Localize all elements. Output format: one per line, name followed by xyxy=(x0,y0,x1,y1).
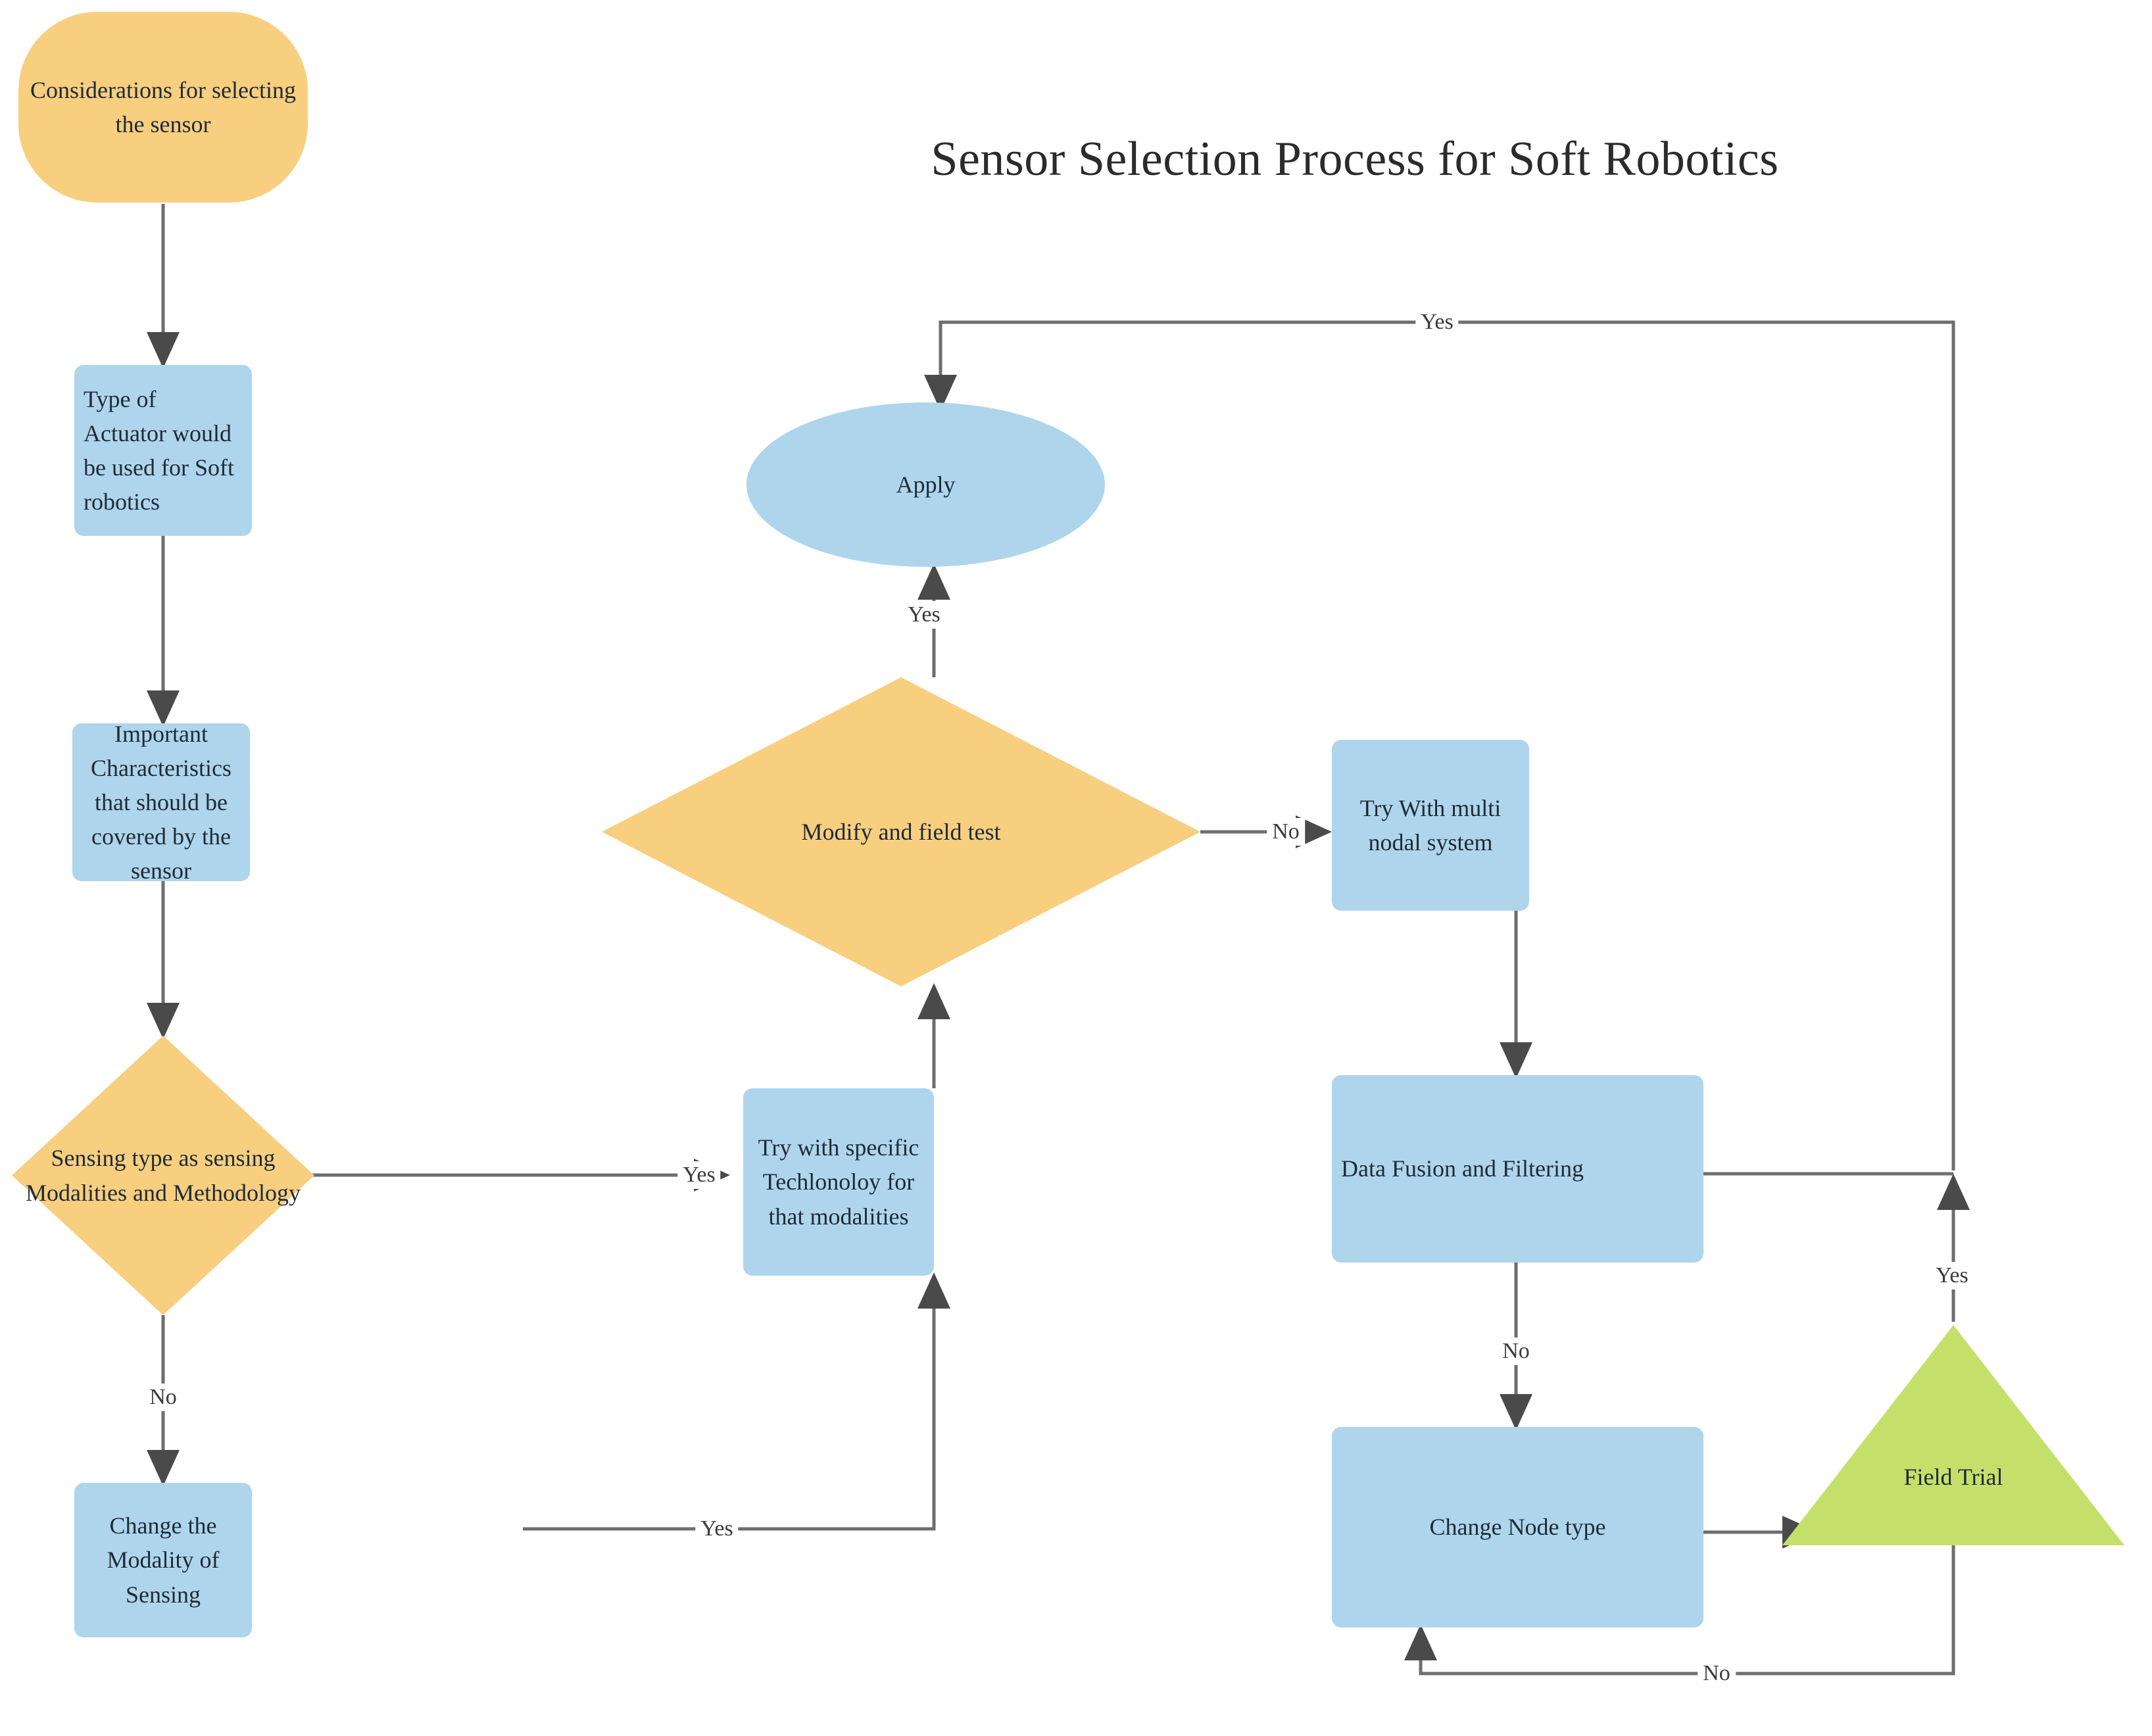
node-label: Sensing type as sensing Modalities and M… xyxy=(12,1141,314,1209)
node-label: Try With multi nodal system xyxy=(1332,791,1529,859)
node-change-node-type[interactable]: Change Node type xyxy=(1332,1427,1703,1627)
chart-title: Sensor Selection Process for Soft Roboti… xyxy=(763,132,1947,187)
edge-label-field-trial-yes: Yes xyxy=(1930,1262,1973,1290)
node-label: Considerations for selecting the sensor xyxy=(18,73,308,141)
node-label: Type of Actuator would be used for Soft … xyxy=(74,382,252,519)
node-data-fusion-and-filtering[interactable]: Data Fusion and Filtering xyxy=(1332,1075,1703,1263)
node-label: Try with specific Techlonoloy for that m… xyxy=(743,1130,934,1234)
node-change-the-modality-of-sensing[interactable]: Change the Modality of Sensing xyxy=(74,1483,252,1637)
node-modify-and-field-test-decision[interactable]: Modify and field test xyxy=(602,677,1200,986)
edge-label-modify-to-multinodal-no: No xyxy=(1267,818,1305,846)
node-try-with-multi-nodal-system[interactable]: Try With multi nodal system xyxy=(1332,740,1529,911)
node-label: Change Node type xyxy=(1332,1510,1703,1544)
edge-change-modality-yes-to-try-specific xyxy=(523,1276,934,1529)
edge-label-modify-to-apply-yes: Yes xyxy=(902,601,945,629)
node-apply[interactable]: Apply xyxy=(746,402,1105,567)
edge-label-field-trial-no: No xyxy=(1698,1660,1736,1687)
node-try-with-specific-technology[interactable]: Try with specific Techlonoloy for that m… xyxy=(743,1088,934,1276)
node-label: Important Characteristics that should be… xyxy=(72,717,250,888)
node-considerations-for-selecting-the-sensor[interactable]: Considerations for selecting the sensor xyxy=(18,12,308,203)
node-label: Modify and field test xyxy=(602,815,1200,849)
edge-label-sensing-yes: Yes xyxy=(677,1161,720,1189)
edge-label-sensing-no: No xyxy=(144,1384,182,1411)
node-type-of-actuator[interactable]: Type of Actuator would be used for Soft … xyxy=(74,365,252,536)
node-label: Apply xyxy=(746,468,1105,502)
node-field-trial[interactable]: Field Trial xyxy=(1782,1325,2124,1545)
edge-label-fusion-to-change-node-no: No xyxy=(1497,1338,1535,1365)
node-label: Data Fusion and Filtering xyxy=(1332,1151,1703,1186)
flowchart-canvas: Sensor Selection Process for Soft Roboti… xyxy=(0,0,2152,1736)
node-sensing-type-decision[interactable]: Sensing type as sensing Modalities and M… xyxy=(12,1036,314,1315)
node-important-characteristics[interactable]: Important Characteristics that should be… xyxy=(72,723,250,881)
edge-label-top-rail-yes: Yes xyxy=(1415,308,1458,336)
edge-label-change-modality-yes: Yes xyxy=(695,1515,738,1543)
node-label: Change the Modality of Sensing xyxy=(74,1508,252,1612)
node-label: Field Trial xyxy=(1782,1460,2124,1545)
